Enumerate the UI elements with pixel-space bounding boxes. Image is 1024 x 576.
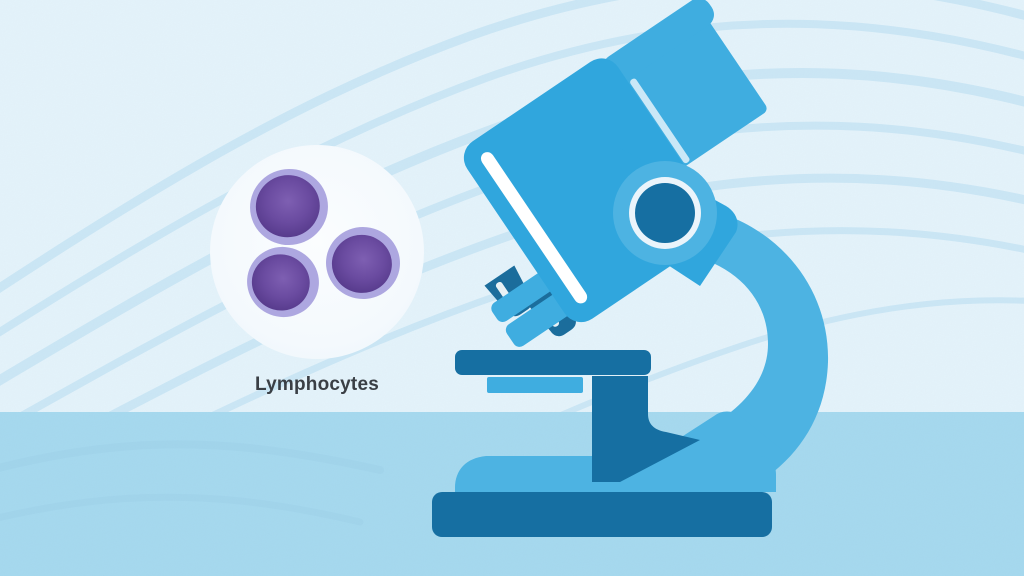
microscope-stage	[455, 350, 651, 375]
microscope-lymphocytes-illustration	[0, 0, 1024, 576]
illustration-canvas: Lymphocytes	[0, 0, 1024, 576]
microscope-focus-knob	[613, 161, 717, 265]
microscope-slide-clip	[487, 377, 583, 393]
focus-knob-center	[635, 183, 695, 243]
microscope-base-foot	[432, 492, 772, 537]
lymphocyte-cell-inset	[210, 145, 424, 359]
